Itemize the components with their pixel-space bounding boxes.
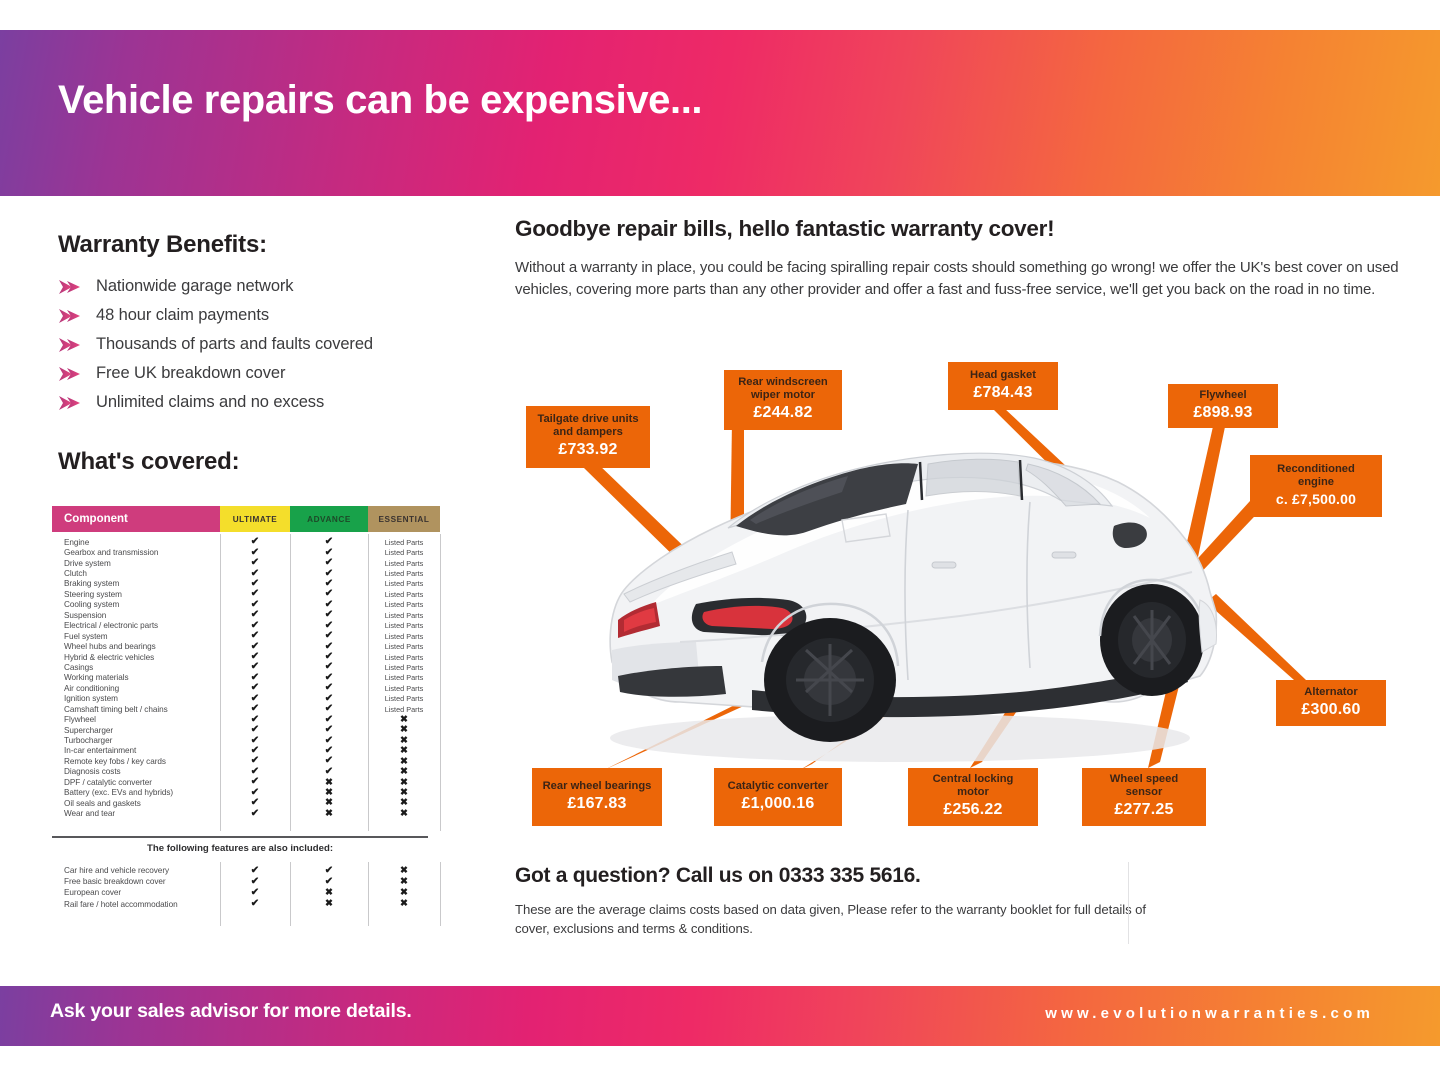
check-icon: ✔ (290, 662, 368, 672)
table-row: Hybrid & electric vehicles✔✔Listed Parts (52, 652, 440, 662)
component-name: Camshaft timing belt / chains (52, 705, 220, 714)
cross-icon: ✖ (368, 877, 440, 887)
benefit-item-label: Nationwide garage network (96, 278, 293, 295)
table-row: Free basic breakdown cover✔✔✖ (52, 876, 440, 887)
cross-icon: ✖ (290, 798, 368, 808)
check-icon: ✔ (290, 537, 368, 547)
cross-icon: ✖ (368, 778, 440, 788)
cross-icon: ✖ (290, 809, 368, 819)
check-icon: ✔ (290, 683, 368, 693)
coverage-table: Component ULTIMATE ADVANCE ESSENTIAL Eng… (52, 506, 440, 819)
cross-icon: ✖ (368, 757, 440, 767)
footer-website-url[interactable]: www.evolutionwarranties.com (1045, 1005, 1374, 1022)
coverage-value: Listed Parts (368, 600, 440, 609)
table-row: Gearbox and transmission✔✔Listed Parts (52, 547, 440, 557)
extras-separator-1 (220, 862, 221, 926)
benefit-item-label: Free UK breakdown cover (96, 365, 285, 382)
component-name: Hybrid & electric vehicles (52, 653, 220, 662)
component-name: Free basic breakdown cover (52, 877, 220, 886)
coverage-value: Listed Parts (368, 569, 440, 578)
footer-cta-text: Ask your sales advisor for more details. (50, 1000, 412, 1023)
cross-icon: ✖ (368, 746, 440, 756)
callout-wiper-motor-label: Rear windscreen wiper motor (734, 376, 832, 402)
coverage-value: Listed Parts (368, 694, 440, 703)
table-row: Remote key fobs / key cards✔✔✖ (52, 756, 440, 766)
cross-icon: ✖ (368, 767, 440, 777)
table-row: Oil seals and gaskets✔✖✖ (52, 798, 440, 808)
table-separator-4 (440, 534, 441, 831)
intro-heading: Goodbye repair bills, hello fantastic wa… (515, 216, 1054, 242)
table-row: Casings✔✔Listed Parts (52, 662, 440, 672)
component-name: In-car entertainment (52, 746, 220, 755)
coverage-value: Listed Parts (368, 538, 440, 547)
cross-icon: ✖ (368, 809, 440, 819)
callout-alternator: Alternator £300.60 (1276, 680, 1386, 726)
callout-wiper-motor: Rear windscreen wiper motor £244.82 (724, 370, 842, 430)
check-icon: ✔ (290, 767, 368, 777)
door-handle-front (1052, 552, 1076, 558)
table-row: European cover✔✖✖ (52, 887, 440, 898)
column-header-component: Component (52, 506, 220, 532)
coverage-value: Listed Parts (368, 559, 440, 568)
callout-central-locking: Central locking motor £256.22 (908, 768, 1038, 826)
car-shadow (610, 714, 1190, 762)
table-row: Camshaft timing belt / chains✔✔Listed Pa… (52, 704, 440, 714)
coverage-table-body: Engine✔✔Listed PartsGearbox and transmis… (52, 537, 440, 819)
callout-central-locking-label: Central locking motor (918, 773, 1028, 799)
table-separator-3 (368, 534, 369, 831)
check-icon: ✔ (220, 798, 290, 808)
cross-icon: ✖ (368, 715, 440, 725)
chevron-right-icon (58, 366, 84, 382)
cta-divider (1128, 862, 1129, 944)
column-header-advance: ADVANCE (290, 506, 368, 532)
callout-tailgate-label: Tailgate drive units and dampers (536, 413, 640, 439)
table-divider-rule (52, 836, 428, 838)
component-name: Steering system (52, 590, 220, 599)
callout-tailgate-price: £733.92 (536, 440, 640, 460)
callout-wheel-speed-sensor-label: Wheel speed sensor (1092, 773, 1196, 799)
table-row: Supercharger✔✔✖ (52, 725, 440, 735)
component-name: Drive system (52, 559, 220, 568)
check-icon: ✔ (220, 725, 290, 735)
cross-icon: ✖ (368, 725, 440, 735)
callout-flywheel: Flywheel £898.93 (1168, 384, 1278, 428)
component-name: Rail fare / hotel accommodation (52, 900, 220, 909)
check-icon: ✔ (290, 756, 368, 766)
coverage-value: Listed Parts (368, 663, 440, 672)
cross-icon: ✖ (368, 788, 440, 798)
table-row: Car hire and vehicle recovery✔✔✖ (52, 865, 440, 876)
benefit-item-label: Thousands of parts and faults covered (96, 336, 373, 353)
car-diagram: Tailgate drive units and dampers £733.92… (500, 350, 1420, 850)
extras-separator-4 (440, 862, 441, 926)
check-icon: ✔ (220, 777, 290, 787)
coverage-value: Listed Parts (368, 684, 440, 693)
table-row: Flywheel✔✔✖ (52, 714, 440, 724)
check-icon: ✔ (220, 877, 290, 887)
callout-rear-wheel-bearings-label: Rear wheel bearings (542, 780, 652, 793)
check-icon: ✔ (220, 866, 290, 876)
component-name: Flywheel (52, 715, 220, 724)
callout-recon-engine-label: Reconditioned engine (1260, 463, 1372, 489)
callout-head-gasket-label: Head gasket (958, 369, 1048, 382)
component-name: Braking system (52, 579, 220, 588)
check-icon: ✔ (220, 888, 290, 898)
coverage-value: Listed Parts (368, 548, 440, 557)
check-icon: ✔ (220, 704, 290, 714)
table-separator-1 (220, 534, 221, 831)
coverage-value: Listed Parts (368, 579, 440, 588)
coverage-extras-body: Car hire and vehicle recovery✔✔✖Free bas… (52, 865, 440, 910)
callout-tailgate: Tailgate drive units and dampers £733.92 (526, 406, 650, 468)
cross-icon: ✖ (368, 899, 440, 909)
check-icon: ✔ (290, 866, 368, 876)
benefit-item-label: Unlimited claims and no excess (96, 394, 324, 411)
cross-icon: ✖ (290, 888, 368, 898)
check-icon: ✔ (220, 756, 290, 766)
component-name: Engine (52, 538, 220, 547)
component-name: Diagnosis costs (52, 767, 220, 776)
rear-side-window (926, 459, 1020, 496)
component-name: Wheel hubs and bearings (52, 642, 220, 651)
component-name: Casings (52, 663, 220, 672)
coverage-value: Listed Parts (368, 642, 440, 651)
benefit-item: Nationwide garage network (58, 272, 478, 301)
component-name: Supercharger (52, 726, 220, 735)
chevron-right-icon (58, 395, 84, 411)
component-name: Car hire and vehicle recovery (52, 866, 220, 875)
component-name: Fuel system (52, 632, 220, 641)
callout-central-locking-price: £256.22 (918, 800, 1028, 820)
column-header-essential: ESSENTIAL (368, 506, 440, 532)
warranty-infographic-page: Vehicle repairs can be expensive... Warr… (0, 0, 1440, 1080)
cross-icon: ✖ (368, 866, 440, 876)
callout-recon-engine: Reconditioned engine c. £7,500.00 (1250, 455, 1382, 517)
callout-flywheel-label: Flywheel (1178, 389, 1268, 402)
component-name: Gearbox and transmission (52, 548, 220, 557)
check-icon: ✔ (290, 558, 368, 568)
table-row: Engine✔✔Listed Parts (52, 537, 440, 547)
callout-recon-engine-price: c. £7,500.00 (1260, 490, 1372, 508)
check-icon: ✔ (220, 537, 290, 547)
chevron-right-icon (58, 279, 84, 295)
callout-rear-wheel-bearings: Rear wheel bearings £167.83 (532, 768, 662, 826)
callout-wheel-speed-sensor-price: £277.25 (1092, 800, 1196, 820)
chevron-right-icon (58, 337, 84, 353)
table-row: Cooling system✔✔Listed Parts (52, 600, 440, 610)
component-name: Working materials (52, 673, 220, 682)
check-icon: ✔ (290, 631, 368, 641)
cross-icon: ✖ (290, 788, 368, 798)
check-icon: ✔ (220, 809, 290, 819)
table-row: Steering system✔✔Listed Parts (52, 589, 440, 599)
benefit-item: 48 hour claim payments (58, 301, 478, 330)
callout-catalytic-converter-label: Catalytic converter (724, 780, 832, 793)
coverage-value: Listed Parts (368, 632, 440, 641)
table-row: Air conditioning✔✔Listed Parts (52, 683, 440, 693)
door-handle-rear (932, 562, 956, 568)
callout-alternator-label: Alternator (1286, 686, 1376, 699)
callout-wiper-motor-price: £244.82 (734, 403, 832, 423)
check-icon: ✔ (220, 899, 290, 909)
check-icon: ✔ (220, 558, 290, 568)
table-row: In-car entertainment✔✔✖ (52, 746, 440, 756)
table-row: Wear and tear✔✖✖ (52, 808, 440, 818)
check-icon: ✔ (220, 610, 290, 620)
check-icon: ✔ (220, 683, 290, 693)
callout-rear-wheel-bearings-price: £167.83 (542, 794, 652, 814)
component-name: Remote key fobs / key cards (52, 757, 220, 766)
table-row: Turbocharger✔✔✖ (52, 735, 440, 745)
check-icon: ✔ (220, 589, 290, 599)
table-row: Suspension✔✔Listed Parts (52, 610, 440, 620)
check-icon: ✔ (220, 662, 290, 672)
benefit-item: Free UK breakdown cover (58, 359, 478, 388)
callout-alternator-price: £300.60 (1286, 700, 1376, 720)
check-icon: ✔ (290, 589, 368, 599)
check-icon: ✔ (290, 610, 368, 620)
coverage-value: Listed Parts (368, 590, 440, 599)
table-row: Electrical / electronic parts✔✔Listed Pa… (52, 621, 440, 631)
table-row: Fuel system✔✔Listed Parts (52, 631, 440, 641)
cross-icon: ✖ (368, 736, 440, 746)
table-row: Drive system✔✔Listed Parts (52, 558, 440, 568)
component-name: Suspension (52, 611, 220, 620)
coverage-value: Listed Parts (368, 673, 440, 682)
extras-heading: The following features are also included… (52, 843, 428, 854)
callout-head-gasket: Head gasket £784.43 (948, 362, 1058, 410)
component-name: European cover (52, 888, 220, 897)
column-header-ultimate: ULTIMATE (220, 506, 290, 532)
cross-icon: ✖ (290, 778, 368, 788)
callout-flywheel-price: £898.93 (1178, 403, 1268, 423)
table-row: Diagnosis costs✔✔✖ (52, 767, 440, 777)
table-row: DPF / catalytic converter✔✖✖ (52, 777, 440, 787)
benefit-item: Unlimited claims and no excess (58, 388, 478, 417)
extras-separator-3 (368, 862, 369, 926)
coverage-extras-table: Car hire and vehicle recovery✔✔✖Free bas… (52, 860, 440, 910)
coverage-value: Listed Parts (368, 621, 440, 630)
extras-separator-2 (290, 862, 291, 926)
table-row: Ignition system✔✔Listed Parts (52, 694, 440, 704)
cta-disclaimer: These are the average claims costs based… (515, 900, 1155, 938)
component-name: Turbocharger (52, 736, 220, 745)
car-illustration (610, 453, 1216, 762)
chevron-right-icon (58, 308, 84, 324)
component-name: DPF / catalytic converter (52, 778, 220, 787)
check-icon: ✔ (220, 631, 290, 641)
component-name: Cooling system (52, 600, 220, 609)
callout-catalytic-converter-price: £1,000.16 (724, 794, 832, 814)
table-row: Braking system✔✔Listed Parts (52, 579, 440, 589)
cta-heading: Got a question? Call us on 0333 335 5616… (515, 864, 921, 888)
check-icon: ✔ (290, 725, 368, 735)
check-icon: ✔ (290, 877, 368, 887)
whats-covered-heading: What's covered: (58, 448, 239, 476)
component-name: Battery (exc. EVs and hybrids) (52, 788, 220, 797)
component-name: Wear and tear (52, 809, 220, 818)
front-wheel (1100, 584, 1204, 696)
table-separator-2 (290, 534, 291, 831)
coverage-value: Listed Parts (368, 653, 440, 662)
table-row: Rail fare / hotel accommodation✔✖✖ (52, 899, 440, 910)
page-title: Vehicle repairs can be expensive... (58, 78, 702, 123)
table-row: Wheel hubs and bearings✔✔Listed Parts (52, 641, 440, 651)
table-row: Clutch✔✔Listed Parts (52, 568, 440, 578)
component-name: Air conditioning (52, 684, 220, 693)
cross-icon: ✖ (290, 899, 368, 909)
table-row: Working materials✔✔Listed Parts (52, 673, 440, 683)
callout-head-gasket-price: £784.43 (958, 383, 1048, 403)
component-name: Electrical / electronic parts (52, 621, 220, 630)
component-name: Oil seals and gaskets (52, 799, 220, 808)
benefit-item: Thousands of parts and faults covered (58, 330, 478, 359)
benefit-item-label: 48 hour claim payments (96, 307, 269, 324)
warranty-benefits-list: Nationwide garage network48 hour claim p… (58, 272, 478, 417)
coverage-value: Listed Parts (368, 611, 440, 620)
component-name: Ignition system (52, 694, 220, 703)
table-row: Battery (exc. EVs and hybrids)✔✖✖ (52, 788, 440, 798)
callout-catalytic-converter: Catalytic converter £1,000.16 (714, 768, 842, 826)
rear-wheel (764, 618, 896, 742)
coverage-table-header-row: Component ULTIMATE ADVANCE ESSENTIAL (52, 506, 440, 532)
intro-paragraph: Without a warranty in place, you could b… (515, 257, 1405, 300)
cross-icon: ✖ (368, 798, 440, 808)
cross-icon: ✖ (368, 888, 440, 898)
callout-wheel-speed-sensor: Wheel speed sensor £277.25 (1082, 768, 1206, 826)
component-name: Clutch (52, 569, 220, 578)
check-icon: ✔ (290, 704, 368, 714)
leader-line-alternator (1206, 594, 1306, 680)
coverage-value: Listed Parts (368, 705, 440, 714)
warranty-benefits-heading: Warranty Benefits: (58, 231, 267, 259)
